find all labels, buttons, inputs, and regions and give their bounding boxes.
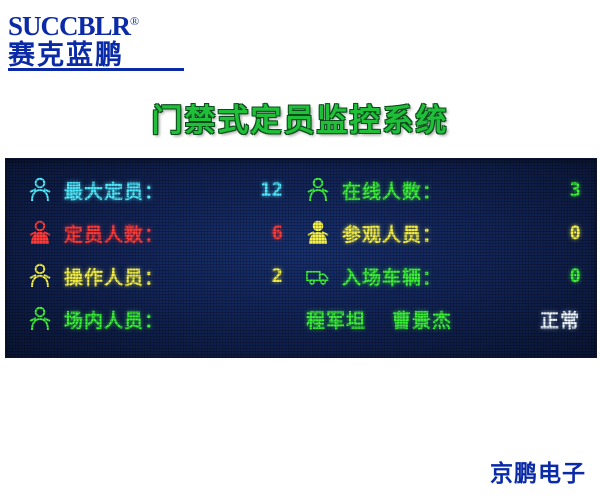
led-display-panel: 最大定员： 12 在线人数： 3 定员人数： 6 [5, 158, 597, 358]
person-cyan-icon [28, 177, 52, 203]
led-row: 定员人数： 6 参观人员： 0 [6, 214, 596, 252]
logo-chinese-label: 赛克蓝鹏 [8, 41, 238, 71]
led-label: 场内人员： [64, 306, 164, 333]
person-yellow-icon [28, 263, 52, 289]
led-value: 12 [260, 179, 283, 201]
led-value: 0 [570, 265, 581, 287]
truck-green-icon [306, 263, 330, 289]
led-label: 最大定员： [64, 177, 164, 204]
led-row: 最大定员： 12 在线人数： 3 [6, 171, 596, 209]
led-label: 入场车辆： [342, 263, 442, 290]
led-label: 在线人数： [342, 177, 442, 204]
company-logo: SUCCBLR® 赛克蓝鹏 [8, 6, 238, 70]
led-label: 定员人数： [64, 220, 164, 247]
led-label: 操作人员： [64, 263, 164, 290]
registered-trademark-icon: ® [130, 14, 138, 28]
personnel-name-list: 程军坦 曹景杰 [306, 300, 478, 338]
logo-latin-label: SUCCBLR [8, 11, 130, 41]
list-item: 曹景杰 [392, 306, 452, 333]
person-red-icon [28, 220, 52, 246]
led-field-visitor-count: 参观人员： 0 [306, 214, 581, 252]
led-value: 0 [570, 222, 581, 244]
led-value: 6 [272, 222, 283, 244]
led-label: 参观人员： [342, 220, 442, 247]
person-green-icon [306, 177, 330, 203]
person-green-icon [28, 306, 52, 332]
led-field-online-count: 在线人数： 3 [306, 171, 581, 209]
led-field-operator-count: 操作人员： 2 [28, 257, 283, 295]
person-yellow-icon [306, 220, 330, 246]
led-field-assigned-capacity: 定员人数： 6 [28, 214, 283, 252]
list-item: 程军坦 [306, 306, 366, 333]
led-row-personnel: 场内人员： 程军坦 曹景杰 正常 [6, 300, 596, 338]
led-field-personnel-onsite: 场内人员： [28, 300, 283, 338]
status-badge: 正常 [540, 300, 580, 338]
led-field-max-capacity: 最大定员： 12 [28, 171, 283, 209]
led-value: 3 [570, 179, 581, 201]
led-field-vehicle-count: 入场车辆： 0 [306, 257, 581, 295]
led-value: 2 [272, 265, 283, 287]
logo-underline-divider [8, 68, 184, 71]
logo-latin-text: SUCCBLR® [8, 6, 238, 41]
footer-brand-label: 京鹏电子 [490, 454, 586, 488]
page-title: 门禁式定员监控系统 [0, 95, 600, 140]
led-row: 操作人员： 2 入场车辆： 0 [6, 257, 596, 295]
